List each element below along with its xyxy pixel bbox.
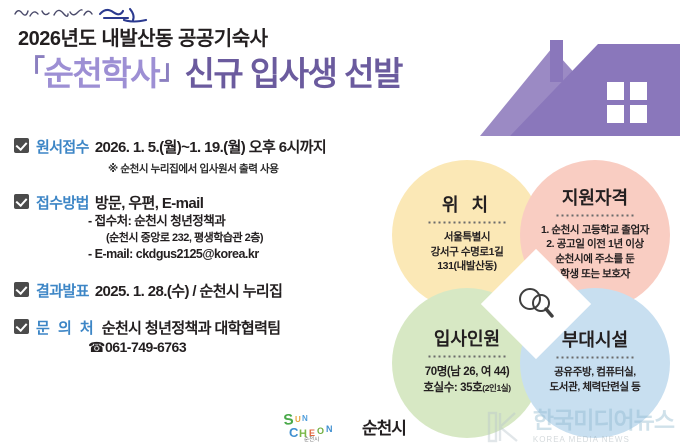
- svg-text:U: U: [295, 415, 301, 424]
- circle-body: 서울특별시 강서구 수명로1길 131(내발산동): [425, 230, 510, 274]
- capacity-rooms-note: (2인1실): [482, 383, 510, 393]
- checklist-sub-address: (순천시 중앙로 232, 평생학습관 2층): [106, 231, 414, 247]
- dotted-divider: [555, 214, 635, 217]
- location-line2: 강서구 수명로1길: [431, 245, 504, 260]
- magnifier-icon: [515, 283, 557, 325]
- dotted-divider: [427, 355, 507, 358]
- bracket-open: 「: [18, 55, 44, 85]
- info-circles: 위 치 서울특별시 강서구 수명로1길 131(내발산동) 지원자격 1. 순천…: [392, 160, 680, 448]
- svg-text:N: N: [326, 424, 333, 434]
- checklist-item-result: 결과발표 2025. 1. 28.(수) / 순천시 누리집: [14, 280, 414, 301]
- location-line3: 131(내발산동): [431, 259, 504, 274]
- checklist-label: 결과발표: [36, 280, 89, 301]
- checkbox-checked-icon: [14, 319, 29, 334]
- capacity-total: 70명(남 26, 여 44): [423, 364, 510, 380]
- eligibility-line3: 순천시에 주소를 둔: [541, 252, 649, 267]
- circle-body: 70명(남 26, 여 44) 호실수: 35호(2인1실): [417, 364, 516, 396]
- facilities-line1: 공유주방, 컴퓨터실,: [550, 365, 641, 380]
- capacity-rooms-text: 호실수: 35호: [423, 382, 482, 394]
- circle-title: 입사인원: [434, 330, 500, 348]
- contact-phone: ☎061-749-6763: [88, 339, 414, 356]
- checklist-value: 방문, 우편, E-mail: [95, 192, 204, 213]
- svg-text:N: N: [302, 414, 308, 423]
- dotted-divider: [427, 221, 507, 224]
- city-slogan: [12, 2, 152, 24]
- checklist-item-method: 접수방법 방문, 우편, E-mail - 접수처: 순천시 청년정책과 (순천…: [14, 192, 414, 264]
- city-name-label: 순천시: [362, 414, 406, 439]
- circle-title: 부대시설: [562, 331, 628, 349]
- checklist-item-application: 원서접수 2026. 1. 5.(월)~1. 19.(월) 오후 6시까지 ※ …: [14, 136, 414, 176]
- checklist-value: 순천시 청년정책과 대학협력팀: [102, 317, 281, 338]
- checkbox-checked-icon: [14, 282, 29, 297]
- headline-name: 순천학사: [44, 55, 159, 92]
- checklist-sub-email: - E-mail: ckdgus2125@korea.kr: [88, 246, 414, 264]
- suncheon-logo-mark: S U N C H E O N 순천시: [282, 410, 354, 442]
- capacity-rooms: 호실수: 35호(2인1실): [423, 380, 510, 396]
- headline-line1: 2026년도 내발산동 공공기숙사: [18, 28, 538, 51]
- headline-rest: 신규 입사생 선발: [184, 55, 401, 92]
- checklist-label: 문 의 처: [36, 317, 96, 338]
- eligibility-line1: 1. 순천시 고등학교 졸업자: [541, 223, 649, 238]
- dotted-divider: [555, 356, 635, 359]
- circle-title: 지원자격: [562, 189, 628, 207]
- checkbox-checked-icon: [14, 138, 29, 153]
- checklist-value: 2026. 1. 5.(월)~1. 19.(월) 오후 6시까지: [95, 136, 326, 157]
- checklist-sub-office: - 접수처: 순천시 청년정책과: [88, 213, 414, 231]
- headline-block: 2026년도 내발산동 공공기숙사 「순천학사」신규 입사생 선발: [18, 28, 538, 94]
- checkbox-checked-icon: [14, 194, 29, 209]
- svg-text:순천시: 순천시: [304, 435, 319, 442]
- circle-body: 공유주방, 컴퓨터실, 도서관, 체력단련실 등: [544, 365, 647, 394]
- headline-line2: 「순천학사」신규 입사생 선발: [18, 55, 538, 94]
- checklist-note: ※ 순천시 누리집에서 입사원서 출력 사용: [108, 161, 414, 176]
- city-logo: S U N C H E O N 순천시 순천시: [282, 410, 406, 442]
- location-line1: 서울특별시: [431, 230, 504, 245]
- checklist-label: 접수방법: [36, 192, 89, 213]
- facilities-line2: 도서관, 체력단련실 등: [550, 380, 641, 395]
- checklist: 원서접수 2026. 1. 5.(월)~1. 19.(월) 오후 6시까지 ※ …: [14, 136, 414, 359]
- eligibility-line2: 2. 공고일 이전 1년 이상: [541, 237, 649, 252]
- bracket-close: 」: [159, 55, 185, 85]
- svg-text:C: C: [289, 425, 299, 440]
- checklist-value: 2025. 1. 28.(수) / 순천시 누리집: [95, 280, 283, 301]
- checklist-item-contact: 문 의 처 순천시 청년정책과 대학협력팀 ☎061-749-6763: [14, 317, 414, 356]
- svg-text:O: O: [317, 426, 324, 436]
- circle-title: 위 치: [442, 196, 492, 214]
- checklist-label: 원서접수: [36, 136, 89, 157]
